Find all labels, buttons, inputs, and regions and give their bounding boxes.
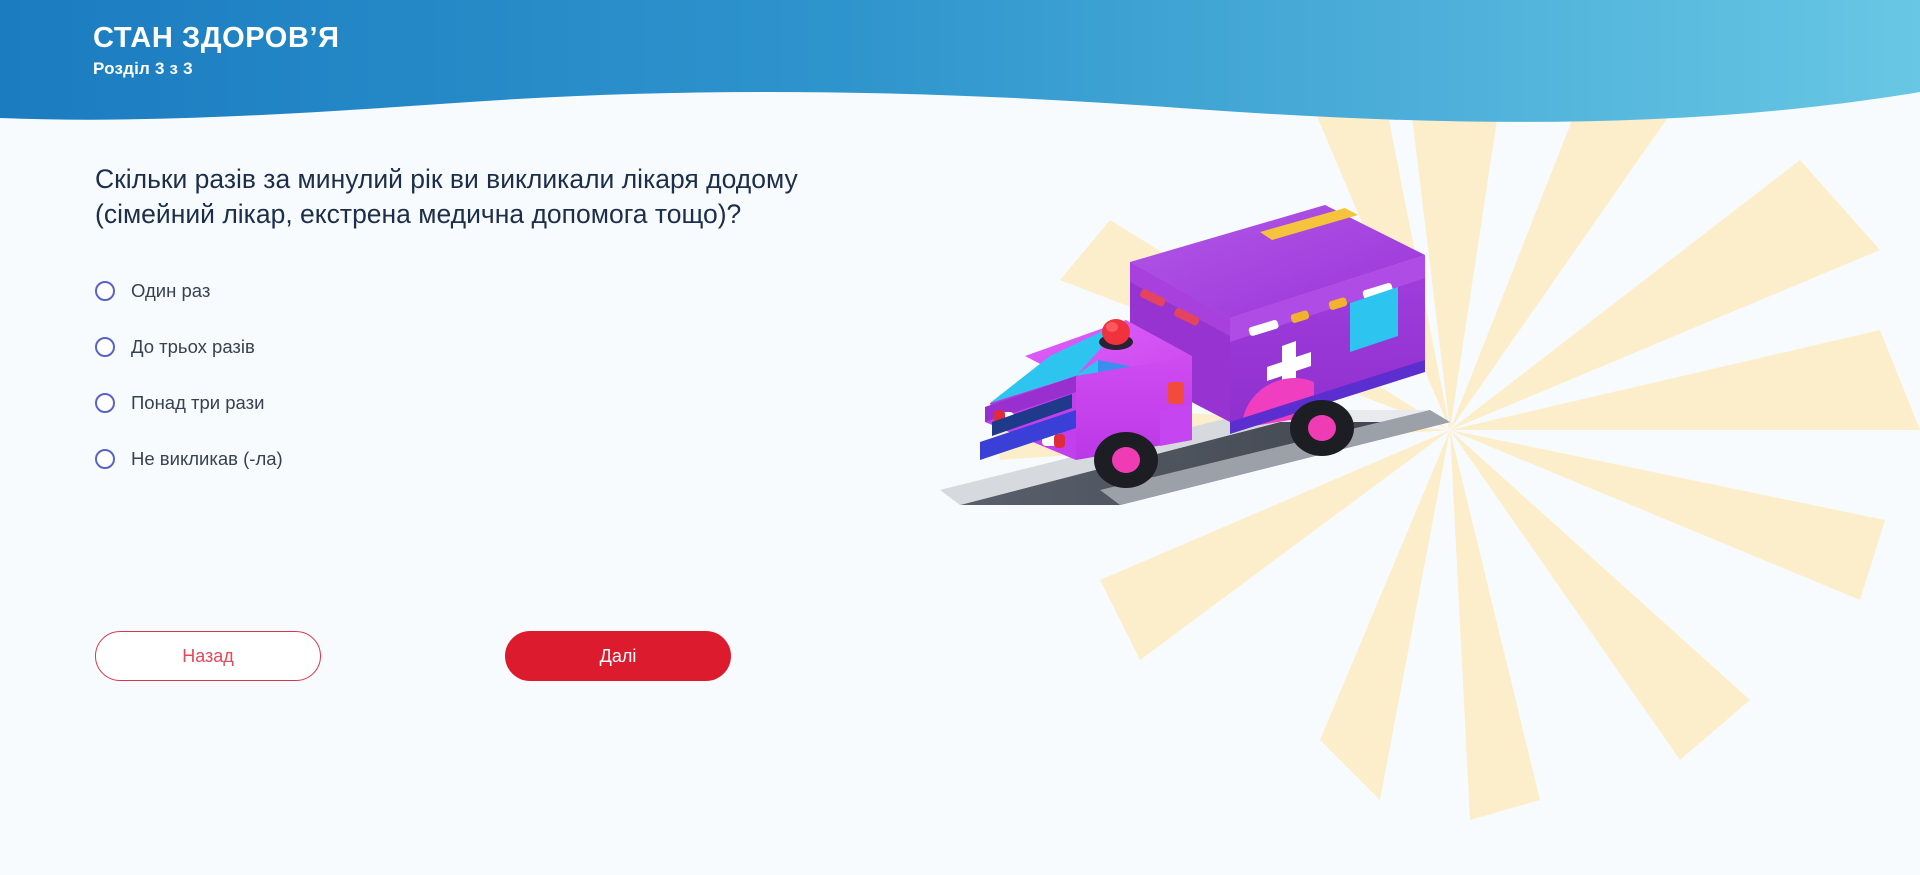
question-text: Скільки разів за минулий рік ви викликал… (95, 162, 1025, 232)
starburst-background (980, 100, 1920, 820)
siren-light (1099, 319, 1133, 350)
answer-options-group: Один раз До трьох разів Понад три рази Н… (95, 275, 655, 499)
navigation-buttons: Назад Далі (95, 631, 731, 681)
next-button[interactable]: Далі (505, 631, 731, 681)
ambulance-box-body (1130, 205, 1425, 434)
page-header: СТАН ЗДОРОВ’Я Розділ 3 з 3 (0, 0, 1920, 135)
option-row-2[interactable]: До трьох разів (95, 331, 655, 363)
rear-wheel (1290, 400, 1354, 456)
radio-icon[interactable] (95, 281, 115, 301)
option-row-3[interactable]: Понад три рази (95, 387, 655, 419)
back-button[interactable]: Назад (95, 631, 321, 681)
option-label: Один раз (131, 282, 210, 301)
radio-icon[interactable] (95, 449, 115, 469)
page-title: СТАН ЗДОРОВ’Я (93, 22, 340, 55)
radio-icon[interactable] (95, 337, 115, 357)
section-indicator: Розділ 3 з 3 (93, 59, 340, 79)
question-line-2: (сімейний лікар, екстрена медична допомо… (95, 197, 1025, 232)
base-platform (940, 410, 1450, 505)
option-label: До трьох разів (131, 338, 255, 357)
option-label: Не викликав (-ла) (131, 450, 283, 469)
option-row-4[interactable]: Не викликав (-ла) (95, 443, 655, 475)
front-wheel (1094, 432, 1158, 488)
medical-cross-icon (1267, 341, 1311, 392)
question-line-1: Скільки разів за минулий рік ви викликал… (95, 162, 1025, 197)
ambulance-cab (980, 319, 1192, 460)
option-label: Понад три рази (131, 394, 264, 413)
option-row-1[interactable]: Один раз (95, 275, 655, 307)
radio-icon[interactable] (95, 393, 115, 413)
